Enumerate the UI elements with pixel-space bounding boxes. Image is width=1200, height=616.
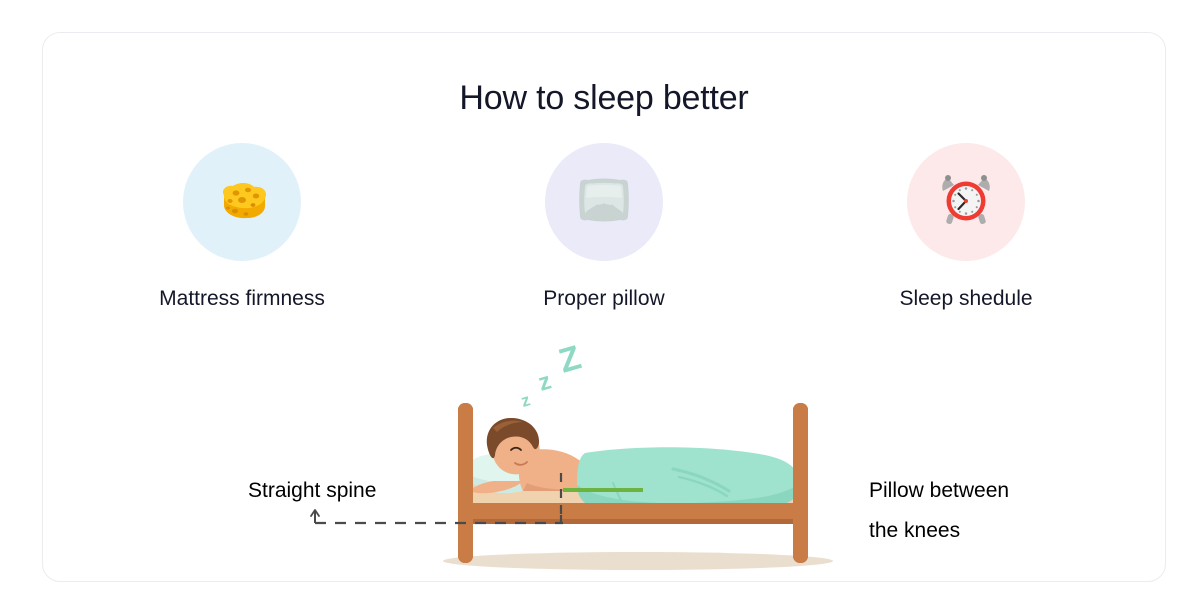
tip-circle-alarm xyxy=(907,143,1025,261)
annotation-straight-spine: Straight spine xyxy=(248,471,376,511)
pillow-icon xyxy=(576,176,632,229)
tip-item-sleep-shedule[interactable]: Sleep shedule xyxy=(871,143,1061,311)
tip-item-mattress-firmness[interactable]: Mattress firmness xyxy=(147,143,337,311)
sponge-icon xyxy=(211,173,273,232)
sleep-letter-small: z xyxy=(519,390,532,411)
tip-circle-pillow xyxy=(545,143,663,261)
sleep-letter-medium: z xyxy=(535,368,554,397)
page-title: How to sleep better xyxy=(43,79,1165,118)
bed-post-foot-front xyxy=(793,403,808,563)
annotation-pillow-line-1: Pillow between xyxy=(869,471,1069,511)
alarm-clock-icon xyxy=(937,172,995,233)
bed-illustration-scene: z z Z Straight spine Pillow between the … xyxy=(193,333,1093,583)
floor-shadow xyxy=(443,552,833,570)
tip-circle-mattress xyxy=(183,143,301,261)
tip-label-sleep-shedule: Sleep shedule xyxy=(899,287,1032,311)
annotation-pillow-between-knees: Pillow between the knees xyxy=(869,471,1069,551)
annotation-pillow-line-2: the knees xyxy=(869,511,1069,551)
tips-row: Mattress firmness Pr xyxy=(43,143,1165,311)
tip-label-mattress-firmness: Mattress firmness xyxy=(159,287,325,311)
tip-item-proper-pillow[interactable]: Proper pillow xyxy=(509,143,699,311)
sleep-letter-large: Z xyxy=(555,338,585,380)
infographic-card: How to sleep better xyxy=(42,32,1166,582)
tip-label-proper-pillow: Proper pillow xyxy=(543,287,664,311)
bed-post-head-front xyxy=(458,403,473,563)
bed-rail-shade xyxy=(458,519,808,524)
